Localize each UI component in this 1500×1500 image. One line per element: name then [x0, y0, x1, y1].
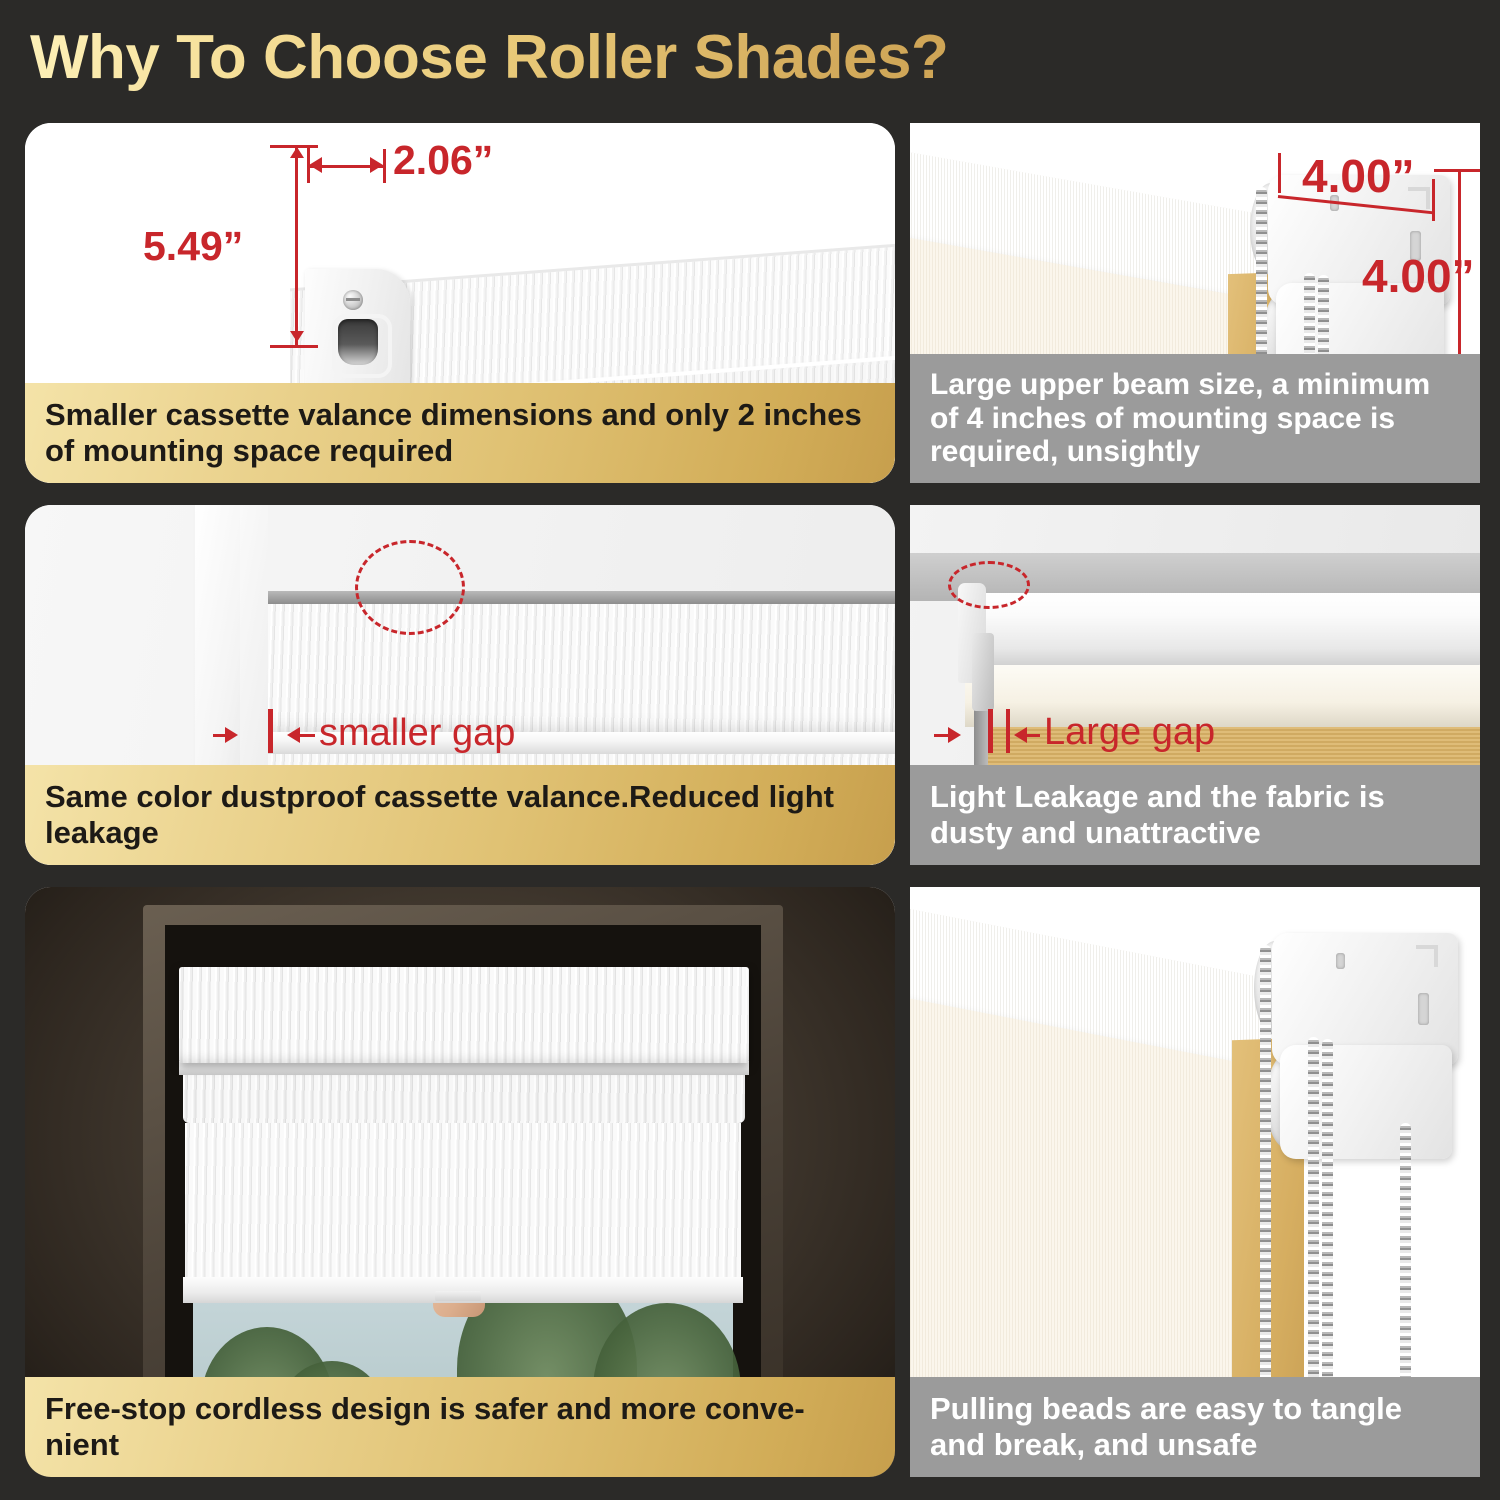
panel-caption: Pulling beads are easy to tangle and bre… — [910, 1377, 1480, 1477]
panel-caption: Free-stop cordless design is safer and m… — [25, 1377, 895, 1477]
panel-bad-beads: Pulling beads are easy to tangle and bre… — [910, 887, 1480, 1477]
panel-caption: Large upper beam size, a minimum of 4 in… — [910, 354, 1480, 483]
width-dimension-label: 4.00” — [1302, 149, 1415, 203]
width-dimension-label: 2.06” — [393, 137, 493, 184]
panel-caption: Same color dustproof cassette valance.Re… — [25, 765, 895, 865]
gap-highlight-circle — [355, 540, 465, 635]
panel-bad-light-gap: Large gap Light Leakage and the fabric i… — [910, 505, 1480, 865]
panel-good-cordless: Free-stop cordless design is safer and m… — [25, 887, 895, 1477]
panel-good-cassette-size: 2.06” 5.49” Smaller cassette valance dim… — [25, 123, 895, 483]
panel-good-light-gap: smaller gap Same color dustproof cassett… — [25, 505, 895, 865]
panel-caption: Light Leakage and the fabric is dusty an… — [910, 765, 1480, 865]
gap-callout-label: Large gap — [1044, 711, 1215, 754]
page-title: Why To Choose Roller Shades? — [30, 18, 1130, 98]
gap-highlight-circle — [948, 561, 1030, 609]
panel-caption: Smaller cassette valance dimensions and … — [25, 383, 895, 483]
height-dimension-label: 5.49” — [143, 223, 243, 270]
height-dimension-label: 4.00” — [1362, 249, 1475, 303]
panel-bad-beam-size: 4.00” 4.00” Large upper beam size, a min… — [910, 123, 1480, 483]
gap-callout-label: smaller gap — [319, 712, 515, 755]
